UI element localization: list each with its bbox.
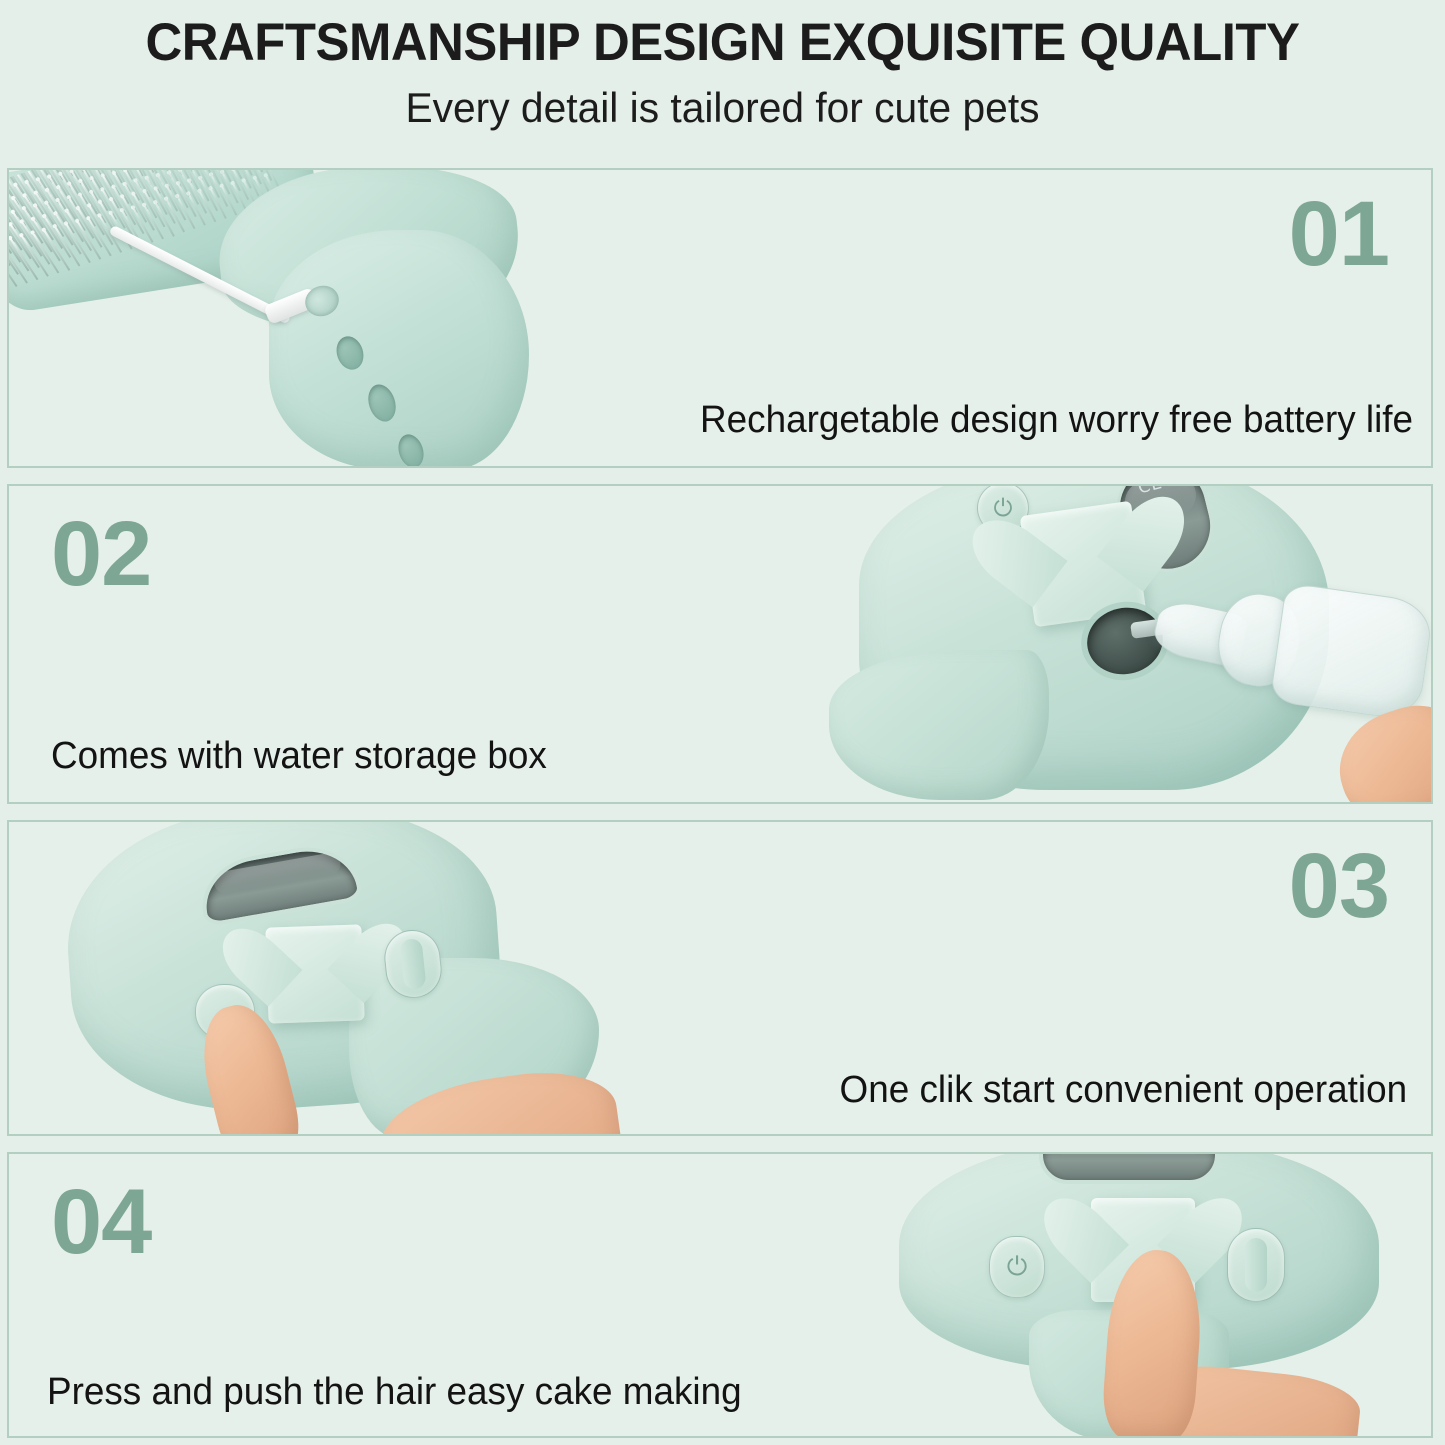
page-subtitle: Every detail is tailored for cute pets [22, 85, 1424, 131]
panel-number-01: 01 [1289, 188, 1389, 280]
panel-caption-01: Rechargetable design worry free battery … [700, 400, 1413, 442]
panel-caption-03: One clik start convenient operation [839, 1070, 1407, 1112]
product-image-hair-release: CE ⏻ [879, 1152, 1433, 1438]
panel-number-02: 02 [51, 508, 151, 600]
feature-panel-list: 01 Rechargetable design worry free batte… [7, 168, 1433, 1438]
feature-panel-04: CE ⏻ 04 Press and push the hair easy cak… [7, 1152, 1433, 1438]
feature-panel-01: 01 Rechargetable design worry free batte… [7, 168, 1433, 468]
slider-button [1227, 1228, 1285, 1302]
panel-caption-04: Press and push the hair easy cake making [47, 1372, 742, 1414]
product-image-water-storage: CE ⏻ [819, 484, 1433, 804]
feature-panel-03: ⏻ 03 One clik start convenient operation [7, 820, 1433, 1136]
page-title: CRAFTSMANSHIP DESIGN EXQUISITE QUALITY [29, 14, 1416, 71]
heart-button [265, 924, 364, 1023]
ce-mark-icon: CE [1091, 1152, 1116, 1154]
brush-body [269, 230, 529, 468]
water-bottle-body [1269, 582, 1433, 722]
panel-caption-02: Comes with water storage box [51, 736, 547, 778]
product-image-one-click-start: ⏻ [49, 820, 669, 1136]
indicator-window: CE [1039, 1152, 1219, 1184]
feature-panel-02: CE ⏻ 02 Comes with water storage box [7, 484, 1433, 804]
device-handle [829, 650, 1049, 800]
brush-pin [7, 170, 8, 221]
power-icon: ⏻ [994, 496, 1013, 520]
product-image-brush-charging [7, 168, 529, 468]
panel-number-03: 03 [1289, 840, 1389, 932]
power-button: ⏻ [989, 1236, 1045, 1298]
panel-number-04: 04 [51, 1176, 151, 1268]
infographic-header: CRAFTSMANSHIP DESIGN EXQUISITE QUALITY E… [0, 0, 1445, 131]
brush-pin [258, 168, 274, 169]
power-icon: ⏻ [1007, 1254, 1028, 1280]
